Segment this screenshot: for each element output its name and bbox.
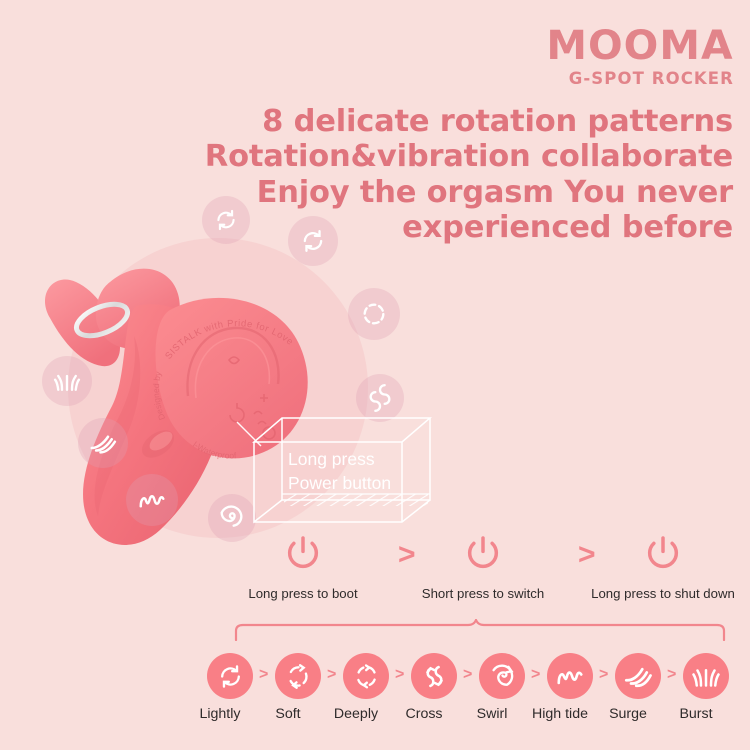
product-feature-banner: MOOMA G-SPOT ROCKER 8 delicate rotation … <box>0 0 750 750</box>
spiral-icon <box>488 662 516 690</box>
surge-strokes-icon <box>623 661 653 691</box>
power-icon <box>463 532 503 574</box>
brand-logo: MOOMA G-SPOT ROCKER <box>550 26 734 88</box>
mode-cross[interactable] <box>411 653 457 699</box>
brand-subtitle: G-SPOT ROCKER <box>550 71 734 88</box>
power-steps-row: > > <box>228 532 738 578</box>
power-captions-row: Long press to boot Short press to switch… <box>228 586 738 606</box>
mode-deeply[interactable] <box>343 653 389 699</box>
callout-line-2: Power button <box>288 472 438 496</box>
headline-line-3: Enjoy the orgasm You never <box>173 175 733 210</box>
floating-wave-peaks-icon <box>126 474 178 526</box>
mode-separator-6: > <box>599 666 608 684</box>
mode-separator-2: > <box>327 666 336 684</box>
power-step-boot[interactable] <box>228 532 378 579</box>
rotation-loop-icon <box>217 663 244 690</box>
mode-burst[interactable] <box>683 653 729 699</box>
floating-rotation-loop-icon <box>202 196 250 244</box>
mode-lightly[interactable] <box>207 653 253 699</box>
power-caption-boot: Long press to boot <box>218 586 388 601</box>
callout-line-1: Long press <box>288 448 438 472</box>
headline-line-4: experienced before <box>173 210 733 245</box>
cross-swirl-icon <box>420 662 449 691</box>
wave-peaks-icon <box>555 661 585 691</box>
power-step-switch[interactable] <box>408 532 558 579</box>
mode-separator-1: > <box>259 666 268 684</box>
headline-line-2: Rotation&vibration collaborate <box>173 139 733 174</box>
rotation-segmented-icon <box>353 663 380 690</box>
headline: 8 delicate rotation patterns Rotation&vi… <box>173 104 733 246</box>
mode-label-burst: Burst <box>651 706 741 722</box>
mode-separator-3: > <box>395 666 404 684</box>
power-icon <box>283 532 323 574</box>
callout-text: Long press Power button <box>288 448 438 495</box>
modes-row: > > > <box>207 653 743 701</box>
mode-surge[interactable] <box>615 653 661 699</box>
power-icon <box>643 532 683 574</box>
power-caption-shutdown: Long press to shut down <box>578 586 748 601</box>
mode-labels-row: Lightly Soft Deeply Cross Swirl High tid… <box>190 706 750 728</box>
mode-high-tide[interactable] <box>547 653 593 699</box>
headline-line-1: 8 delicate rotation patterns <box>173 104 733 139</box>
mode-swirl[interactable] <box>479 653 525 699</box>
floating-rotation-segmented-icon <box>348 288 400 340</box>
mode-separator-5: > <box>531 666 540 684</box>
power-step-shutdown[interactable] <box>588 532 738 579</box>
modes-brace <box>234 619 726 641</box>
floating-rotation-loop-icon <box>288 216 338 266</box>
floating-surge-strokes-icon <box>78 418 128 468</box>
rotation-dashed-icon <box>285 663 312 690</box>
power-caption-switch: Short press to switch <box>398 586 568 601</box>
floating-burst-spray-icon <box>42 356 92 406</box>
brand-name: MOOMA <box>547 26 734 66</box>
mode-separator-4: > <box>463 666 472 684</box>
mode-soft[interactable] <box>275 653 321 699</box>
mode-separator-7: > <box>667 666 676 684</box>
burst-spray-icon <box>691 661 721 691</box>
